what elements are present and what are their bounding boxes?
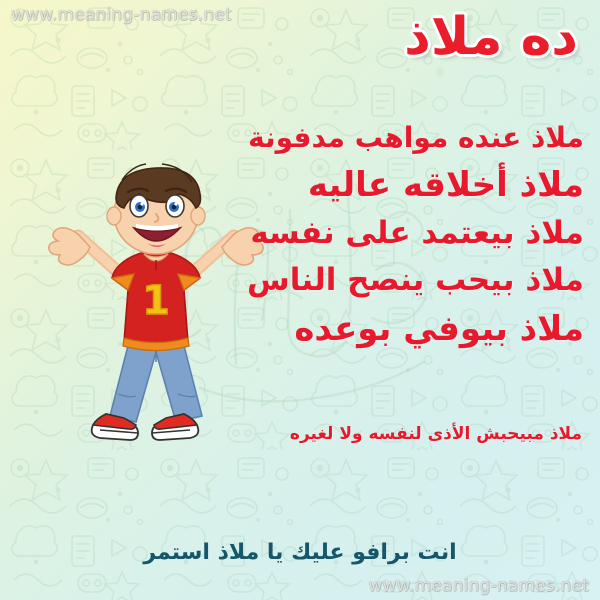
page-title: ده ملاذ (404, 8, 578, 68)
boy-left-arm (49, 228, 116, 270)
boy-shoes (92, 414, 199, 440)
meaning-line-3: ملاذ بيعتمد على نفسه (164, 218, 584, 249)
meaning-line-1: ملاذ عنده مواهب مدفونة (164, 124, 584, 152)
meaning-line-5: ملاذ بيوفي بوعده (164, 312, 584, 346)
watermark-top-left: www.meaning-names.net (11, 5, 232, 25)
meaning-lines-list: ملاذ عنده مواهب مدفونة ملاذ أخلاقه عاليه… (164, 124, 584, 360)
meaning-line-4: ملاذ بيحب ينصح الناس (164, 265, 584, 296)
footer-message: انت برافو عليك يا ملاذ استمر (0, 540, 600, 565)
watermark-bottom-right: www.meaning-names.net (368, 576, 589, 596)
name-meaning-card: www.meaning-names.net www.meaning-names.… (0, 0, 600, 600)
meaning-line-2: ملاذ أخلاقه عاليه (164, 168, 584, 202)
meaning-note: ملاذ مبيحبش الأذى لنفسه ولا لغيره (290, 424, 582, 444)
